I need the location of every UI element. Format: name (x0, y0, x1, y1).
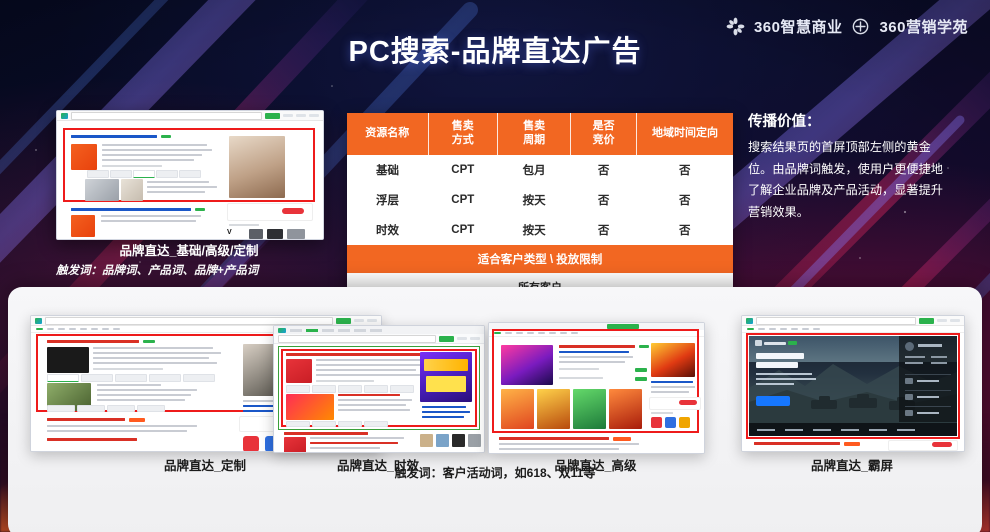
hero-cta-button[interactable] (756, 396, 790, 406)
th-is-bidding: 是否竞价 (571, 113, 637, 155)
game-tile[interactable] (501, 389, 534, 429)
link-chip[interactable] (137, 405, 165, 412)
result-line (310, 447, 380, 449)
tab-chip[interactable] (156, 170, 178, 178)
side-line (651, 391, 689, 393)
result-title[interactable] (559, 345, 635, 348)
nav-tab[interactable] (36, 328, 43, 331)
result-line (316, 364, 428, 366)
promo-discount-badge (426, 376, 466, 392)
toolbar-extra-2 (950, 319, 960, 322)
ad-tag (129, 418, 145, 422)
screenshot-brand-zone-basic[interactable]: V 360搜索结果页 品牌直达广告示例 (56, 110, 324, 240)
result-line (93, 347, 213, 349)
search-button[interactable] (336, 318, 351, 324)
nav-tab[interactable] (113, 328, 120, 331)
toolbar-extra-1 (283, 114, 293, 117)
search-input[interactable] (45, 317, 333, 325)
product-tile[interactable] (436, 434, 449, 447)
cell-resource-name: 基础 (347, 155, 428, 185)
result-link[interactable] (559, 351, 629, 353)
divider (905, 390, 951, 391)
divider (905, 406, 951, 407)
hero-subline (756, 378, 816, 380)
nav-tab[interactable] (747, 328, 754, 331)
game-tile[interactable] (609, 389, 642, 429)
screenshot-brand-zone-advanced[interactable]: 游戏类 高级样式示例 (488, 322, 705, 454)
value-title: 传播价值： (748, 110, 948, 131)
result-line (559, 356, 633, 358)
result-title[interactable] (284, 432, 368, 435)
browser-tab[interactable] (290, 329, 302, 332)
mini-browser-toolbar (274, 334, 484, 344)
result-title[interactable] (754, 442, 840, 445)
th-sale-mode: 售卖方式 (428, 113, 497, 155)
hero-bottom-nav (749, 423, 957, 436)
tab-chip[interactable] (149, 374, 181, 382)
mini-browser-game-search: 游戏类 高级样式示例 (489, 323, 704, 453)
ad-tag (143, 340, 155, 343)
browser-tab[interactable] (338, 329, 350, 332)
tab-chip[interactable] (81, 374, 113, 382)
result-line (102, 144, 207, 146)
tab-chip[interactable] (364, 385, 388, 393)
result-title[interactable] (47, 418, 125, 421)
ad-tag (613, 437, 631, 441)
tab-chip[interactable] (115, 374, 147, 382)
trigger-words-top: 触发词：品牌词、产品词、品牌+产品词 (56, 262, 356, 278)
link-chip[interactable] (47, 405, 75, 412)
cell-sale-mode: CPT (428, 155, 497, 185)
nav-tab[interactable] (58, 328, 65, 331)
toolbar-extra-2 (296, 114, 306, 117)
promo-banner-small[interactable] (286, 394, 334, 420)
game-brand-row (755, 340, 797, 346)
nav-tab[interactable] (769, 328, 776, 331)
screenshot-alt-text: 360搜索结果页 定制样式示例 (31, 333, 32, 334)
game-logo-icon (755, 340, 762, 346)
brand-label-2: 360营销学苑 (879, 16, 968, 37)
avatar (905, 342, 914, 351)
cell-resource-name: 时效 (347, 215, 428, 245)
hero-side-rail (899, 336, 957, 422)
result-url (93, 368, 163, 370)
mini-browser-360-search: V 360搜索结果页 品牌直达广告示例 (57, 111, 323, 239)
game-hero-banner[interactable] (749, 336, 957, 436)
search-input[interactable] (756, 317, 916, 325)
result-line (47, 425, 197, 427)
result-url (559, 368, 599, 370)
result-line (147, 181, 209, 183)
side-link[interactable] (422, 406, 466, 408)
tab-chip[interactable] (110, 170, 132, 178)
link-chip[interactable] (364, 421, 388, 427)
tab-chip[interactable] (87, 170, 109, 178)
hero-subline (756, 373, 812, 375)
product-tile[interactable] (420, 434, 433, 447)
brand-video-thumb[interactable] (47, 347, 89, 373)
side-link[interactable] (422, 411, 470, 413)
result-line (499, 443, 639, 445)
brand-logo-bar: 360智慧商业 360营销学苑 (726, 16, 968, 37)
nav-tab[interactable] (47, 328, 54, 331)
cell-is-bidding: 否 (571, 215, 637, 245)
brand-tile[interactable] (287, 229, 305, 239)
result-line (338, 394, 400, 396)
result-line (310, 442, 398, 444)
result-line (93, 352, 221, 354)
value-proposition-block: 传播价值： 搜索结果页的首屏顶部左侧的黄金位。由品牌词触发，使用户更便捷地了解企… (748, 110, 948, 224)
result-title[interactable] (47, 340, 139, 343)
toolbar-extra-1 (457, 337, 467, 340)
brand-logo-thumb (71, 144, 97, 170)
caption-top-showcase: 品牌直达_基础/高级/定制 (56, 240, 322, 259)
site-logo-icon (61, 113, 68, 119)
download-button[interactable] (635, 368, 647, 372)
app-tile[interactable] (651, 417, 662, 428)
cell-customer-type-band: 适合客户类型 \ 投放限制 (347, 245, 733, 273)
nav-tab[interactable] (69, 328, 76, 331)
result-line (101, 215, 201, 217)
cell-sale-cycle: 按天 (498, 185, 571, 215)
toolbar-extra-2 (367, 319, 377, 322)
result-line (559, 377, 603, 379)
browser-tab-active[interactable] (306, 329, 318, 332)
site-logo-icon (35, 318, 42, 324)
product-tile[interactable] (452, 434, 465, 447)
brand-tile[interactable] (249, 229, 263, 239)
brand-logo-thumb (71, 215, 95, 237)
toolbar-extra-1 (937, 319, 947, 322)
hero-subline (756, 383, 794, 385)
link-chip[interactable] (312, 421, 336, 427)
table-row: 基础 CPT 包月 否 否 (347, 155, 733, 185)
search-input[interactable] (278, 335, 436, 343)
menu-icon[interactable] (905, 394, 913, 400)
link-chip[interactable] (77, 405, 105, 412)
nav-item[interactable] (869, 429, 887, 431)
cell-sale-mode: CPT (428, 215, 497, 245)
360-flower-logo-icon (726, 17, 745, 36)
side-label (931, 362, 947, 364)
game-brand-name (764, 342, 786, 345)
promo-headline (424, 359, 468, 371)
toolbar-extra-3 (309, 114, 319, 117)
product-tile[interactable] (468, 434, 481, 447)
side-line (651, 381, 693, 383)
cell-geo-time: 否 (636, 155, 733, 185)
menu-icon[interactable] (905, 378, 913, 384)
screenshot-brand-zone-fullscreen[interactable]: 坦克世界 霸屏样式示例 (741, 315, 965, 452)
nav-item[interactable] (897, 429, 915, 431)
mini-browser-toolbar (57, 111, 323, 121)
side-cta-button[interactable] (932, 442, 952, 447)
hero-headline-2 (756, 362, 798, 368)
result-line (147, 186, 217, 188)
search-button[interactable] (919, 318, 934, 324)
tab-chip[interactable] (183, 374, 215, 382)
menu-item-label[interactable] (917, 412, 939, 414)
result-line (93, 357, 209, 359)
side-cta-button[interactable] (679, 400, 697, 405)
nav-tab[interactable] (780, 328, 787, 331)
table-row: 时效 CPT 按天 否 否 (347, 215, 733, 245)
tab-chip[interactable] (338, 385, 362, 393)
th-resource-name: 资源名称 (347, 113, 428, 155)
toolbar-extra-2 (470, 337, 480, 340)
side-label (931, 356, 947, 358)
download-button[interactable] (635, 377, 647, 381)
side-link[interactable] (422, 416, 464, 418)
cell-sale-cycle: 按天 (498, 215, 571, 245)
side-label (229, 224, 259, 226)
trigger-words-bottom: 触发词：客户活动词，如618、双11等 (8, 464, 982, 481)
search-button[interactable] (439, 336, 454, 342)
cell-sale-mode: CPT (428, 185, 497, 215)
game-tile[interactable] (537, 389, 570, 429)
value-body: 搜索结果页的首屏顶部左侧的黄金位。由品牌词触发，使用户更便捷地了解企业品牌及产品… (748, 137, 948, 224)
slide-root: PC搜索-品牌直达广告 360智慧商业 360营销学苑 (0, 0, 990, 532)
result-title[interactable] (499, 437, 609, 440)
nav-item[interactable] (785, 429, 803, 431)
nav-item[interactable] (757, 429, 775, 431)
result-line (102, 149, 212, 151)
side-label (905, 362, 923, 364)
nav-tab[interactable] (758, 328, 765, 331)
tab-chip-active[interactable] (47, 374, 79, 382)
result-url (102, 165, 162, 167)
ad-tag (161, 135, 171, 138)
result-title[interactable] (71, 135, 157, 138)
game-tile[interactable] (573, 389, 606, 429)
game-hero-thumb[interactable] (501, 345, 553, 385)
result-title[interactable] (71, 208, 191, 211)
result-url (316, 380, 374, 382)
result-line (147, 191, 205, 193)
menu-item-label[interactable] (917, 396, 939, 398)
mini-browser-tank-game: 坦克世界 霸屏样式示例 (742, 316, 964, 451)
table-header-row: 资源名称 售卖方式 售卖周期 是否竞价 地域时间定向 (347, 113, 733, 155)
tab-chip[interactable] (390, 385, 414, 393)
screenshot-brand-zone-timely[interactable]: 京东促销 时效样式示例 (273, 325, 485, 453)
cell-geo-time: 否 (636, 215, 733, 245)
result-line (97, 384, 161, 386)
screenshot-alt-text: 坦克世界 霸屏样式示例 (742, 333, 743, 334)
mini-browser-nav (742, 326, 964, 333)
nav-tab[interactable] (791, 328, 798, 331)
jd-logo-thumb (284, 437, 306, 452)
browser-tab[interactable] (322, 329, 334, 332)
tab-chip[interactable] (179, 170, 201, 178)
nav-tab[interactable] (91, 328, 98, 331)
menu-item-label[interactable] (917, 380, 939, 382)
brand-label-1: 360智慧商业 (754, 16, 843, 37)
brand-tile[interactable] (267, 229, 283, 239)
mini-browser-toolbar (742, 316, 964, 326)
nav-tab[interactable] (802, 328, 809, 331)
result-line (316, 359, 424, 361)
product-thumb[interactable] (85, 179, 119, 201)
result-line (316, 374, 420, 376)
nav-tab[interactable] (102, 328, 109, 331)
result-line (93, 362, 217, 364)
ad-tag (195, 208, 205, 211)
gallery-panel: 360搜索结果页 定制样式示例 品牌直达_定制 (8, 287, 982, 532)
nav-tab[interactable] (813, 328, 820, 331)
search-input[interactable] (71, 112, 262, 120)
screenshot-alt-text: 360搜索结果页 品牌直达广告示例 (57, 121, 58, 122)
ad-tag (844, 442, 860, 446)
result-line (97, 389, 197, 391)
toolbar-extra-1 (354, 319, 364, 322)
cell-is-bidding: 否 (571, 155, 637, 185)
brand-letter-lv: V (227, 229, 245, 239)
360-circle-logo-icon (851, 17, 870, 36)
side-label (918, 344, 942, 347)
result-line (97, 394, 191, 396)
cell-resource-name: 浮层 (347, 185, 428, 215)
result-line (102, 154, 202, 156)
ad-tag (788, 341, 797, 345)
hero-headline-1 (756, 353, 804, 359)
app-tile[interactable] (665, 417, 676, 428)
divider (905, 374, 951, 375)
link-chip[interactable] (338, 421, 362, 427)
tab-chip[interactable] (286, 385, 310, 393)
th-sale-cycle: 售卖周期 (498, 113, 571, 155)
result-line (338, 409, 410, 411)
menu-icon[interactable] (905, 410, 913, 416)
browser-tab[interactable] (354, 329, 366, 332)
result-line (47, 430, 187, 432)
tab-chip[interactable] (312, 385, 336, 393)
table-band-row: 适合客户类型 \ 投放限制 (347, 245, 733, 273)
brand-banner-image[interactable] (229, 136, 285, 198)
product-thumb[interactable] (121, 179, 143, 201)
th-geo-time-targeting: 地域时间定向 (636, 113, 733, 155)
result-line (97, 399, 185, 401)
jd-logo-thumb (286, 359, 312, 383)
link-chip[interactable] (286, 421, 310, 427)
side-cta-button[interactable] (282, 208, 304, 214)
resource-spec-table: 资源名称 售卖方式 售卖周期 是否竞价 地域时间定向 基础 CPT 包月 否 否… (347, 113, 733, 301)
app-tile[interactable] (243, 436, 259, 451)
result-line (338, 399, 412, 401)
result-line (499, 448, 619, 450)
result-line (338, 404, 406, 406)
brand-banner-image[interactable] (651, 343, 695, 377)
search-button[interactable] (265, 113, 280, 119)
result-line (310, 437, 404, 439)
site-logo-icon (746, 318, 753, 324)
result-title[interactable] (47, 438, 137, 441)
result-line (101, 220, 196, 222)
link-chip[interactable] (107, 405, 135, 412)
mini-browser-jd: 京东促销 时效样式示例 (274, 326, 484, 452)
side-label (651, 412, 673, 414)
nav-tab[interactable] (80, 328, 87, 331)
nav-item[interactable] (841, 429, 859, 431)
nav-item[interactable] (813, 429, 831, 431)
table-row: 浮层 CPT 按天 否 否 (347, 185, 733, 215)
site-logo-icon (278, 328, 286, 333)
cell-is-bidding: 否 (571, 185, 637, 215)
result-line (102, 159, 194, 161)
side-label (905, 356, 925, 358)
result-title[interactable] (286, 353, 436, 356)
tab-chip-active[interactable] (133, 170, 155, 178)
cell-geo-time: 否 (636, 185, 733, 215)
result-line (316, 369, 416, 371)
th-sale-mode-l1: 售卖 (452, 120, 474, 132)
browser-tab[interactable] (370, 329, 382, 332)
ad-tag (639, 345, 649, 348)
side-line (651, 386, 695, 388)
cell-sale-cycle: 包月 (498, 155, 571, 185)
result-line (559, 361, 625, 363)
app-tile[interactable] (679, 417, 690, 428)
